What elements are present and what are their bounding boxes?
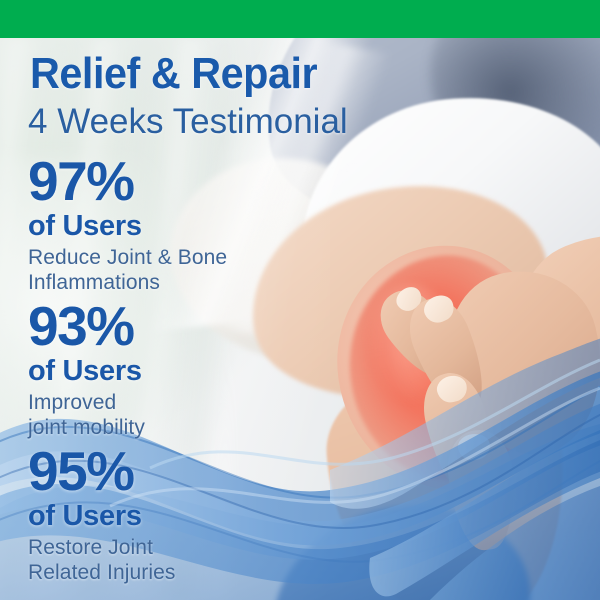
stat-description: Reduce Joint & Bone Inflammations [28,245,227,295]
stat-block-3: 95% of Users Restore Joint Related Injur… [28,443,176,585]
stat-description: Restore Joint Related Injuries [28,535,176,585]
advertisement-card: Relief & Repair 4 Weeks Testimonial 97% … [0,0,600,600]
stat-percent: 97% [28,153,227,209]
stat-description: Improved joint mobility [28,390,145,440]
stat-audience: of Users [28,500,176,532]
page-title: Relief & Repair [30,52,317,96]
stat-block-2: 93% of Users Improved joint mobility [28,298,145,440]
stat-percent: 95% [28,443,176,499]
top-accent-bar [0,0,600,38]
stat-audience: of Users [28,355,145,387]
page-subtitle: 4 Weeks Testimonial [28,103,348,141]
stat-block-1: 97% of Users Reduce Joint & Bone Inflamm… [28,153,227,295]
stat-percent: 93% [28,298,145,354]
stat-audience: of Users [28,210,227,242]
